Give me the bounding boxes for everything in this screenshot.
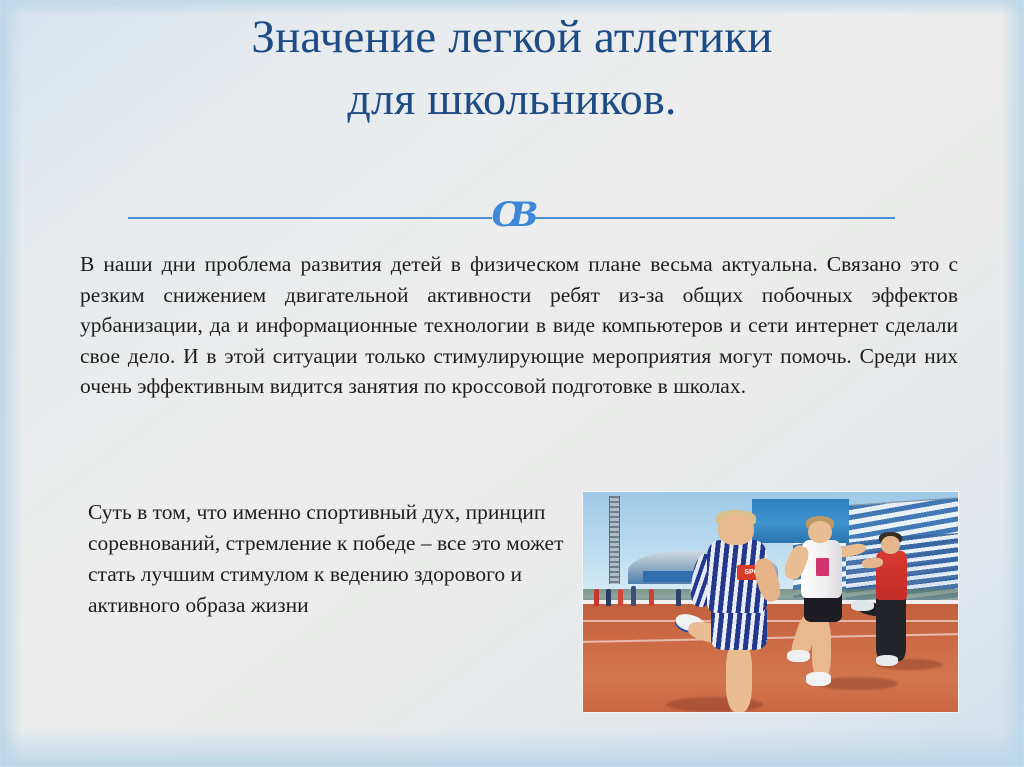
photo-runner-2 [808,521,832,543]
photo-runner-3 [876,595,906,661]
title-line-2: для школьников. [52,68,972,130]
body-paragraph-1: В наши дни проблема развития детей в физ… [80,249,958,402]
photo-runner-1 [711,606,767,650]
presentation-slide: Значение легкой атлетики для школьников.… [0,0,1024,767]
photo-floodlight-mast [609,496,620,584]
photo-runner-3 [881,536,900,554]
photo-runner-2 [787,650,810,662]
photo-children-running: SPO [583,492,958,712]
decorative-divider: CB [128,196,895,240]
photo-runner-2-bib [816,558,829,576]
flourish-ornament-icon: CB [492,198,532,232]
photo-runner-1 [718,514,754,545]
title-line-1: Значение легкой атлетики [52,6,972,68]
page-title: Значение легкой атлетики для школьников. [52,6,972,130]
photo-runner-2 [806,672,830,685]
divider-rule-left [128,217,492,219]
body-paragraph-2: Суть в том, что именно спортивный дух, п… [88,497,588,621]
photo-runner-1 [726,642,752,712]
divider-rule-right [531,217,895,219]
photo-stadium-building [752,499,850,543]
photo-runner-2 [812,617,831,679]
photo-runner-3 [851,600,874,611]
body-text-block: В наши дни проблема развития детей в физ… [80,249,958,402]
photo-runner-3 [876,655,899,666]
